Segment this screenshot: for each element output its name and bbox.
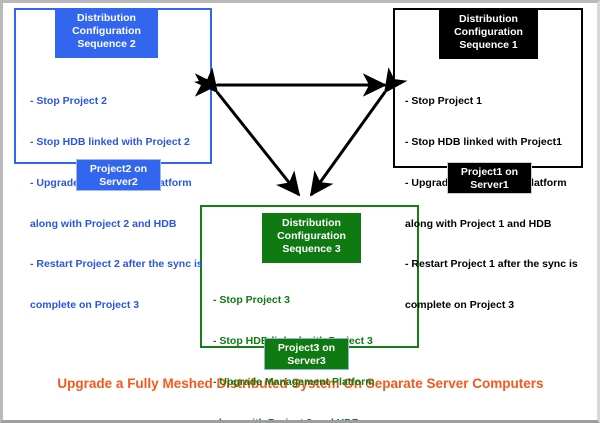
step-item: along with Project 1 and HDB — [405, 218, 585, 232]
diagram-canvas: Distribution Configuration Sequence 2 - … — [0, 0, 600, 423]
header-line-3: Sequence 2 — [55, 38, 158, 51]
footer-line-1: Project1 on — [448, 166, 531, 179]
footer-line-1: Project3 on — [265, 342, 348, 355]
connector-seq2-seq3 — [217, 92, 299, 195]
node-sequence-3-header: Distribution Configuration Sequence 3 — [262, 213, 361, 263]
node-sequence-1-steps: - Stop Project 1 - Stop HDB linked with … — [405, 68, 585, 340]
diagram-stage: Distribution Configuration Sequence 2 - … — [3, 3, 597, 420]
node-sequence-3[interactable]: Distribution Configuration Sequence 3 - … — [200, 205, 419, 348]
node-sequence-1-footer: Project1 on Server1 — [447, 162, 532, 194]
header-line-1: Distribution — [262, 217, 361, 230]
node-sequence-2-header: Distribution Configuration Sequence 2 — [55, 8, 158, 58]
footer-line-2: Server2 — [77, 176, 160, 189]
node-sequence-3-footer: Project3 on Server3 — [264, 338, 349, 370]
header-line-1: Distribution — [55, 12, 158, 25]
step-item: along with Project 3 and HDB — [213, 417, 418, 423]
node-sequence-1-header: Distribution Configuration Sequence 1 — [439, 9, 538, 59]
step-item: along with Project 2 and HDB — [30, 218, 212, 232]
step-item: - Stop Project 3 — [213, 294, 418, 308]
footer-line-2: Server1 — [448, 179, 531, 192]
header-line-2: Configuration — [55, 25, 158, 38]
step-item: - Stop HDB linked with Project 2 — [30, 136, 212, 150]
footer-line-2: Server3 — [265, 355, 348, 368]
step-item: complete on Project 3 — [30, 299, 212, 313]
node-sequence-1[interactable]: Distribution Configuration Sequence 1 - … — [393, 8, 583, 168]
step-item: complete on Project 3 — [405, 299, 585, 313]
header-line-3: Sequence 1 — [439, 39, 538, 52]
header-line-2: Configuration — [262, 230, 361, 243]
header-line-2: Configuration — [439, 26, 538, 39]
footer-line-1: Project2 on — [77, 163, 160, 176]
connector-seq1-seq3 — [311, 92, 385, 195]
header-line-1: Distribution — [439, 13, 538, 26]
step-item: - Stop Project 2 — [30, 95, 212, 109]
step-item: - Upgrade Management Platform — [213, 376, 418, 390]
node-sequence-2[interactable]: Distribution Configuration Sequence 2 - … — [14, 8, 212, 164]
step-item: - Restart Project 2 after the sync is — [30, 258, 212, 272]
header-line-3: Sequence 3 — [262, 243, 361, 256]
step-item: - Restart Project 1 after the sync is — [405, 258, 585, 272]
node-sequence-2-steps: - Stop Project 2 - Stop HDB linked with … — [30, 68, 212, 340]
step-item: - Stop Project 1 — [405, 95, 585, 109]
step-item: - Stop HDB linked with Project1 — [405, 136, 585, 150]
node-sequence-2-footer: Project2 on Server2 — [76, 159, 161, 191]
